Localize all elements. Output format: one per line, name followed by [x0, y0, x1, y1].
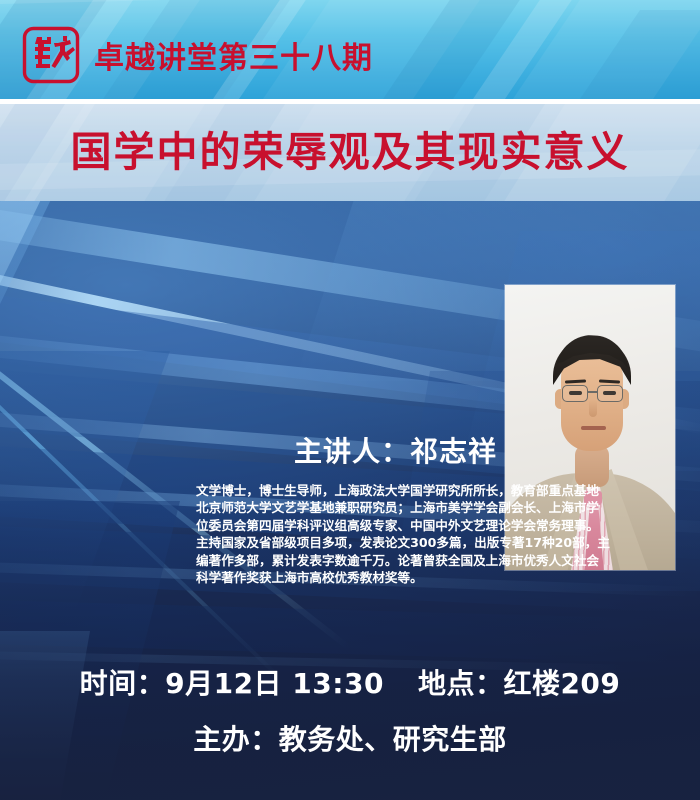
brand-title: 卓越讲堂第三十八期 [94, 33, 373, 77]
place-value: 红楼209 [503, 667, 620, 700]
portrait-glasses-left-lens [562, 385, 588, 402]
page-title: 国学中的荣辱观及其现实意义 [0, 118, 700, 178]
bio-line: 北京师范大学文艺学基地兼职研究员；上海市美学学会副会长、上海市学 [196, 499, 614, 516]
speaker-biography: 文学博士，博士生导师，上海政法大学国学研究所所长，教育部重点基地 北京师范大学文… [196, 482, 614, 586]
portrait-nose [589, 399, 597, 417]
brand-logo-group: 卓越讲堂第三十八期 [22, 26, 373, 84]
time-label: 时间： [80, 667, 166, 700]
lecture-poster: 卓越讲堂第三十八期 国学中的荣辱观及其现实意义 [0, 0, 700, 800]
organizer-label: 主办： [193, 723, 279, 756]
header-band: 卓越讲堂第三十八期 [0, 0, 700, 100]
bio-line: 文学博士，博士生导师，上海政法大学国学研究所所长，教育部重点基地 [196, 482, 614, 499]
speaker-name-line: 主讲人：祁志祥 [0, 430, 505, 470]
time-value: 9月12日 13:30 [165, 667, 384, 700]
portrait-glasses-right-lens [597, 385, 623, 402]
bio-line: 编著作多部，累计发表字数逾千万。论著曾获全国及上海市优秀人文社会 [196, 552, 614, 569]
bio-line: 位委员会第四届学科评议组高级专家、中国中外文艺理论学会常务理事。 [196, 517, 614, 534]
portrait-neck [575, 445, 609, 487]
red-seal-stamp-icon [22, 26, 80, 84]
bio-line: 科学著作奖获上海市高校优秀教材奖等。 [196, 569, 614, 586]
organizer-value: 教务处、研究生部 [279, 723, 507, 756]
portrait-glasses-bridge [588, 391, 597, 393]
event-time-location: 时间：9月12日 13:30地点：红楼209 [0, 662, 700, 702]
place-label: 地点： [418, 667, 504, 700]
event-organizer: 主办：教务处、研究生部 [0, 718, 700, 758]
portrait-mouth [581, 426, 606, 430]
bio-line: 主持国家及省部级项目多项，发表论文300多篇，出版专著17种20部，主 [196, 534, 614, 551]
